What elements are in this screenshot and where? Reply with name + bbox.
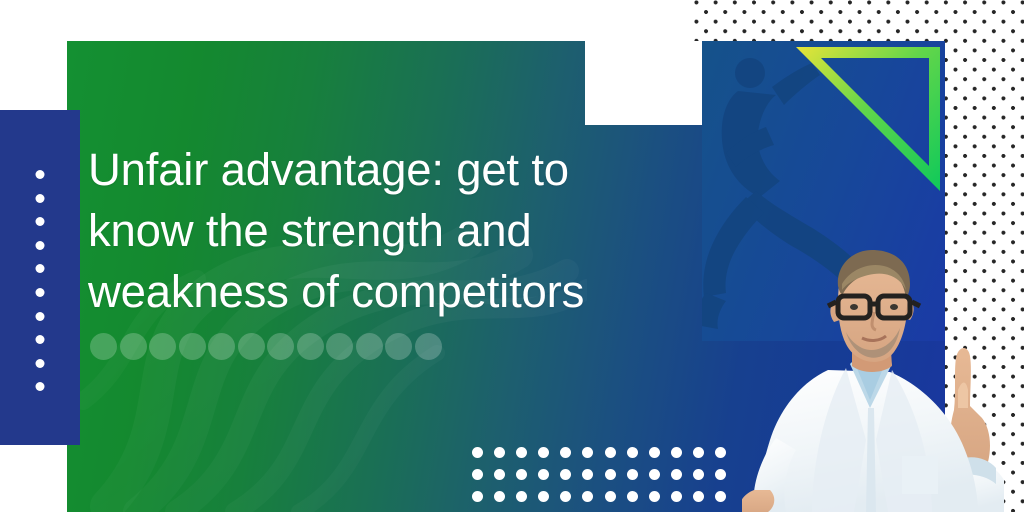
dot <box>715 491 726 502</box>
dot <box>582 469 593 480</box>
dot <box>36 264 45 273</box>
dot <box>627 447 638 458</box>
dot <box>649 447 660 458</box>
dot <box>494 469 505 480</box>
marketing-banner: Unfair advantage: get to know the streng… <box>0 0 1024 512</box>
circle <box>120 333 147 360</box>
dot <box>538 491 549 502</box>
navy-side-column <box>0 110 80 445</box>
circle <box>415 333 442 360</box>
circle <box>238 333 265 360</box>
dot <box>671 469 682 480</box>
dot <box>693 447 704 458</box>
circle <box>267 333 294 360</box>
dot <box>538 447 549 458</box>
dot <box>36 288 45 297</box>
dot <box>36 335 45 344</box>
circle <box>356 333 383 360</box>
dot <box>582 447 593 458</box>
dot <box>560 491 571 502</box>
dot <box>36 359 45 368</box>
dot <box>494 491 505 502</box>
headline-text: Unfair advantage: get to know the streng… <box>88 139 648 322</box>
dot <box>627 469 638 480</box>
circle <box>326 333 353 360</box>
dot <box>472 491 483 502</box>
circle <box>149 333 176 360</box>
panel-notch <box>585 41 702 125</box>
circle <box>179 333 206 360</box>
dot <box>494 447 505 458</box>
dot <box>582 491 593 502</box>
circle <box>297 333 324 360</box>
dot <box>36 241 45 250</box>
circle <box>208 333 235 360</box>
dot <box>649 469 660 480</box>
chevron-triangle-outline <box>793 44 943 194</box>
dot <box>671 491 682 502</box>
white-dot-grid <box>472 447 737 512</box>
translucent-circle-row <box>90 333 442 360</box>
dot <box>516 491 527 502</box>
dot <box>36 312 45 321</box>
dot <box>36 170 45 179</box>
dot <box>605 447 616 458</box>
dot <box>627 491 638 502</box>
dot <box>538 469 549 480</box>
vertical-dot-column <box>36 170 45 391</box>
dot <box>715 469 726 480</box>
dot <box>605 469 616 480</box>
dot <box>671 447 682 458</box>
circle <box>90 333 117 360</box>
dot <box>36 217 45 226</box>
dot <box>605 491 616 502</box>
dot <box>693 469 704 480</box>
dot <box>560 469 571 480</box>
dot <box>472 447 483 458</box>
dot <box>36 194 45 203</box>
doctor-pointing-photo <box>742 240 1004 512</box>
dot <box>649 491 660 502</box>
dot <box>516 447 527 458</box>
dot <box>472 469 483 480</box>
dot <box>715 447 726 458</box>
circle <box>385 333 412 360</box>
dot <box>516 469 527 480</box>
dot <box>560 447 571 458</box>
dot <box>36 382 45 391</box>
dot <box>693 491 704 502</box>
